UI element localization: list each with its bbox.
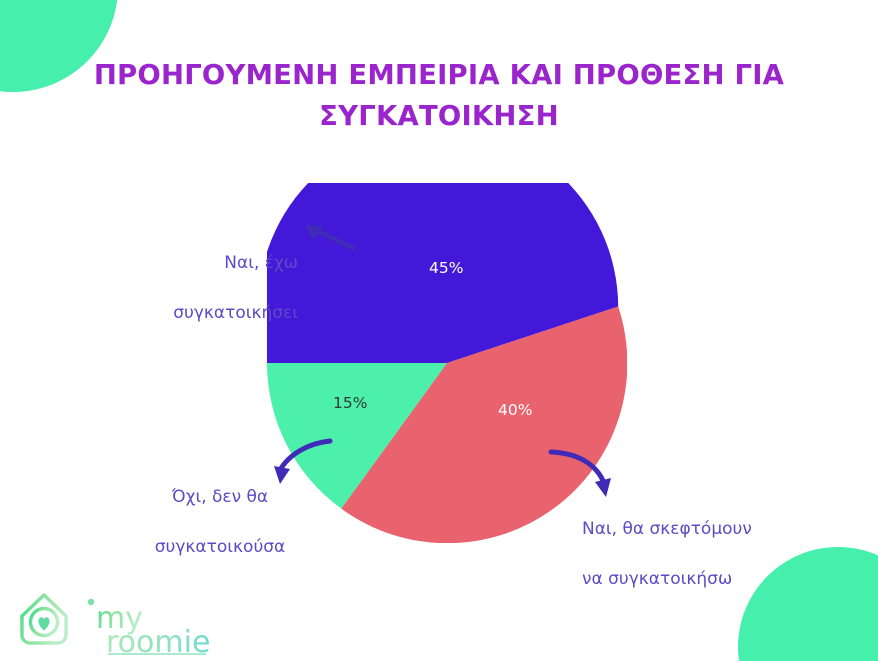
- house-heart-icon: [22, 595, 66, 643]
- callout-line-2: να συγκατοικήσω: [582, 569, 732, 589]
- slide-canvas: ΠΡΟΗΓΟΥΜΕΝΗ ΕΜΠΕΙΡΙΑ ΚΑΙ ΠΡΟΘΕΣΗ ΓΙΑ ΣΥΓ…: [0, 0, 878, 661]
- pie-chart: [267, 183, 627, 543]
- pie-callout-label-no: Όχι, δεν θα συγκατοικούσα: [120, 460, 320, 560]
- pie-callout-label-would-consider: Ναι, θα σκεφτόμουν να συγκατοικήσω: [582, 492, 822, 592]
- heart-shape: [38, 617, 49, 630]
- logo-dot: [88, 599, 94, 605]
- pie-value-label-would-consider: 40%: [498, 401, 532, 419]
- pie-callout-label-yes-have: Ναι, έχω συγκατοικήσει: [118, 226, 298, 326]
- callout-line-2: συγκατοικούσα: [155, 537, 286, 557]
- brand-logo: my roomie: [14, 585, 244, 655]
- pie-value-label-yes-have: 45%: [429, 259, 463, 277]
- pie-value-label-no: 15%: [333, 394, 367, 412]
- callout-line-1: Ναι, θα σκεφτόμουν: [582, 519, 752, 539]
- callout-line-2: συγκατοικήσει: [173, 303, 298, 323]
- callout-line-1: Ναι, έχω: [224, 253, 298, 273]
- page-title: ΠΡΟΗΓΟΥΜΕΝΗ ΕΜΠΕΙΡΙΑ ΚΑΙ ΠΡΟΘΕΣΗ ΓΙΑ ΣΥΓ…: [0, 55, 878, 137]
- callout-line-1: Όχι, δεν θα: [172, 487, 268, 507]
- logo-text-roomie: roomie: [106, 625, 210, 655]
